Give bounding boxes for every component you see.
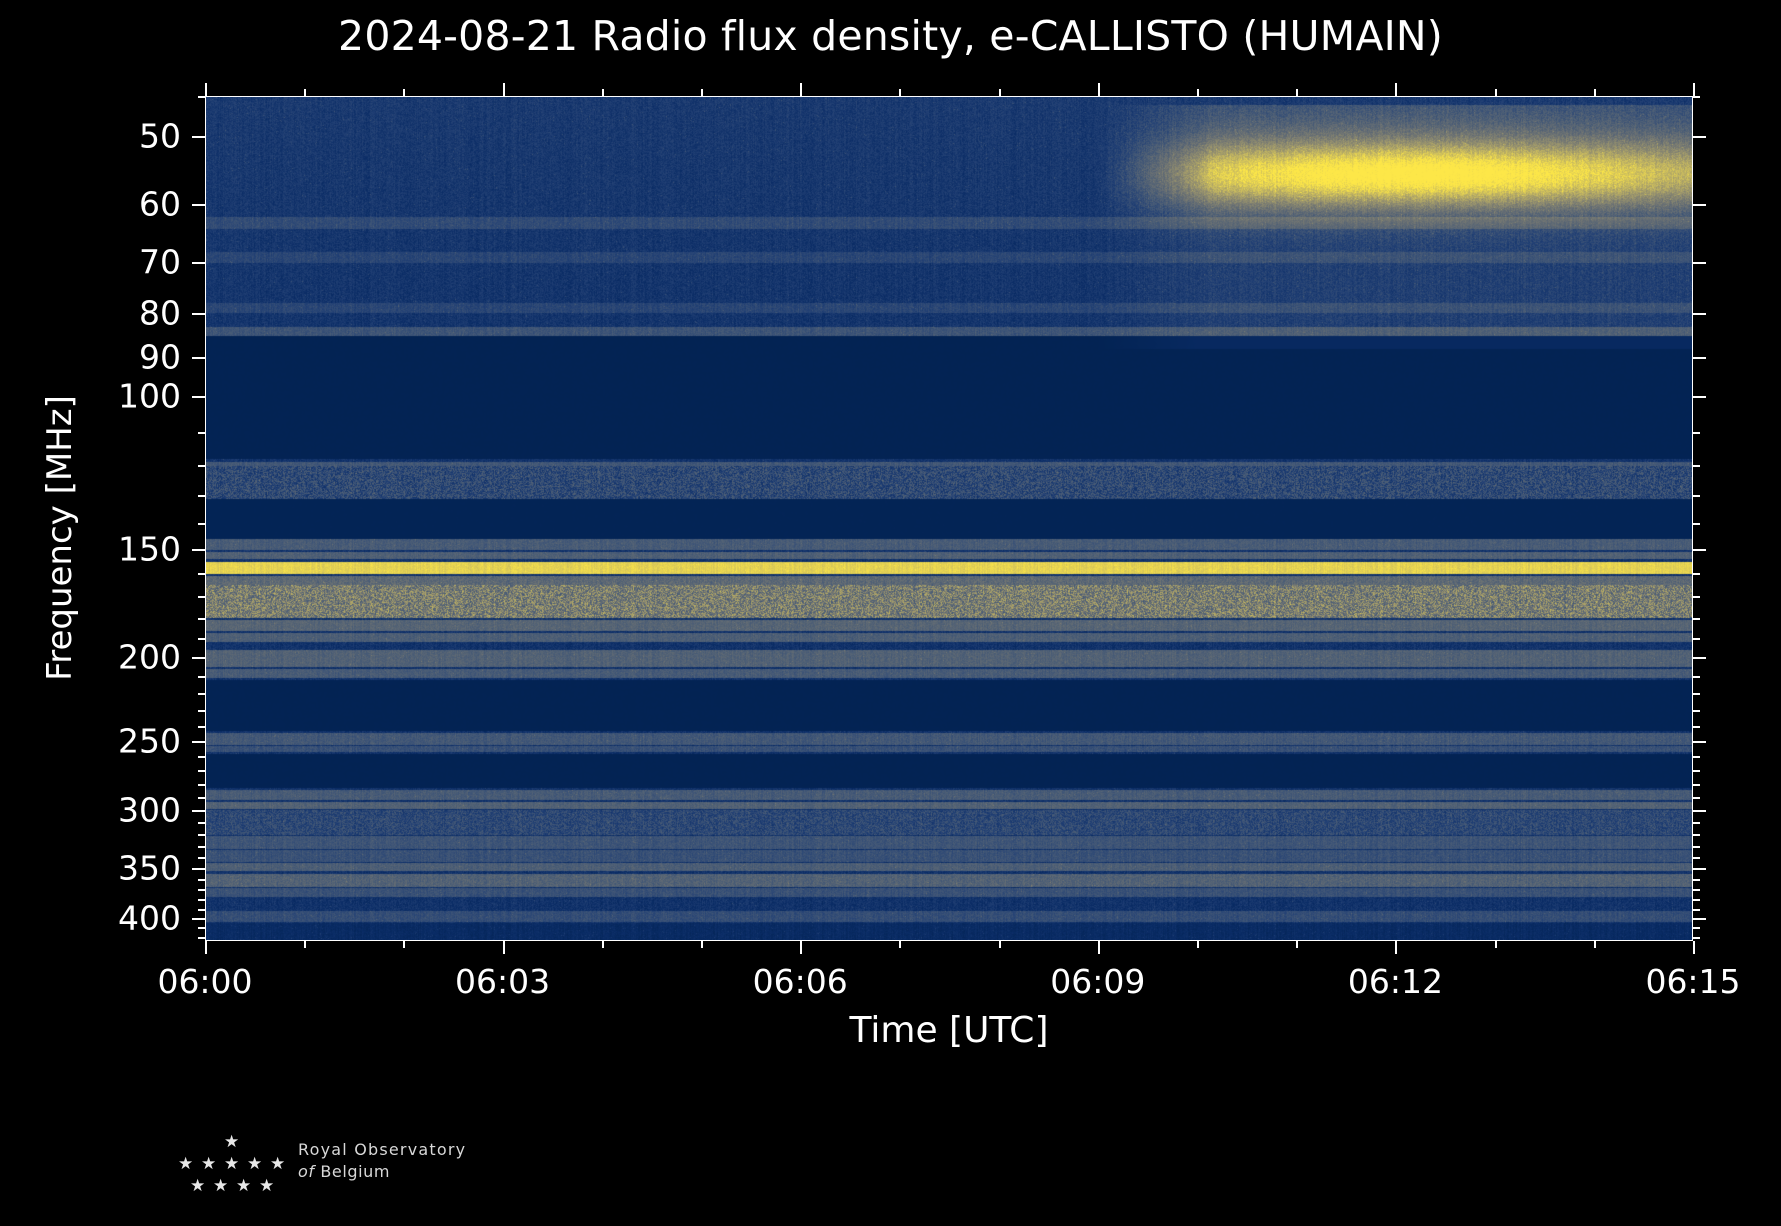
x-tick-minor (1495, 89, 1497, 96)
y-tick-label: 80 (21, 293, 181, 332)
y-tick-minor (198, 756, 205, 758)
x-tick-label: 06:00 (157, 962, 252, 1001)
y-tick-major (1693, 136, 1706, 138)
y-tick-minor (1693, 927, 1700, 929)
logo-line-1: Royal Observatory (298, 1139, 588, 1161)
x-tick-minor (701, 941, 703, 948)
y-tick-major (1693, 868, 1706, 870)
royal-observatory-logo: ★★★★★★★★★★ Royal Observatory of Belgium (178, 1134, 598, 1214)
y-tick-label: 70 (21, 243, 181, 282)
x-tick-minor (304, 89, 306, 96)
y-tick-minor (198, 797, 205, 799)
y-tick-minor (198, 899, 205, 901)
x-tick-minor (403, 941, 405, 948)
y-tick-major (1693, 262, 1706, 264)
x-tick-minor (899, 89, 901, 96)
x-tick-minor (999, 89, 1001, 96)
x-tick-label: 06:15 (1645, 962, 1740, 1001)
y-tick-minor (1693, 523, 1700, 525)
x-axis-label: Time [UTC] (205, 1010, 1693, 1051)
y-tick-major (192, 357, 205, 359)
y-tick-minor (198, 846, 205, 848)
y-tick-minor (198, 909, 205, 911)
x-tick-major (205, 83, 207, 96)
y-tick-major (1693, 204, 1706, 206)
y-tick-minor (1693, 96, 1700, 98)
spectrogram-plot-area (205, 96, 1693, 941)
y-tick-major (192, 549, 205, 551)
y-tick-major (1693, 357, 1706, 359)
y-axis-label: Frequency [MHz] (40, 328, 80, 748)
y-tick-minor (198, 693, 205, 695)
star-icon: ★ (224, 1156, 239, 1173)
y-tick-major (192, 313, 205, 315)
x-tick-major (800, 941, 802, 954)
x-tick-major (205, 941, 207, 954)
y-tick-minor (198, 596, 205, 598)
y-tick-minor (198, 857, 205, 859)
x-tick-major (1395, 83, 1397, 96)
y-tick-minor (198, 676, 205, 678)
y-tick-minor (1693, 638, 1700, 640)
x-tick-label: 06:06 (753, 962, 848, 1001)
x-tick-major (503, 83, 505, 96)
y-tick-minor (1693, 726, 1700, 728)
y-tick-major (192, 657, 205, 659)
star-icon: ★ (201, 1156, 216, 1173)
y-tick-minor (198, 770, 205, 772)
x-tick-minor (701, 89, 703, 96)
x-tick-minor (403, 89, 405, 96)
y-tick-minor (198, 710, 205, 712)
y-tick-major (192, 918, 205, 920)
y-tick-major (192, 136, 205, 138)
y-tick-minor (198, 889, 205, 891)
x-tick-minor (999, 941, 1001, 948)
y-tick-minor (1693, 889, 1700, 891)
y-tick-minor (1693, 676, 1700, 678)
y-tick-minor (1693, 857, 1700, 859)
x-tick-major (503, 941, 505, 954)
page-title: 2024-08-21 Radio flux density, e-CALLIST… (0, 12, 1781, 60)
y-tick-minor (1693, 573, 1700, 575)
y-tick-major (1693, 396, 1706, 398)
y-tick-minor (198, 879, 205, 881)
x-tick-minor (1197, 89, 1199, 96)
spectrogram-figure: 2024-08-21 Radio flux density, e-CALLIST… (0, 0, 1781, 1226)
x-tick-minor (602, 941, 604, 948)
y-tick-minor (198, 638, 205, 640)
x-tick-major (1098, 83, 1100, 96)
y-tick-major (1693, 741, 1706, 743)
y-tick-minor (1693, 834, 1700, 836)
star-icon: ★ (259, 1178, 274, 1195)
y-tick-minor (198, 927, 205, 929)
y-tick-minor (1693, 596, 1700, 598)
x-tick-label: 06:03 (455, 962, 550, 1001)
x-tick-major (1098, 941, 1100, 954)
y-tick-minor (198, 784, 205, 786)
y-tick-minor (198, 726, 205, 728)
y-tick-minor (198, 465, 205, 467)
y-tick-minor (1693, 693, 1700, 695)
y-tick-minor (198, 96, 205, 98)
y-tick-minor (1693, 465, 1700, 467)
x-tick-minor (1594, 89, 1596, 96)
x-tick-major (1693, 83, 1695, 96)
star-icon: ★ (213, 1178, 228, 1195)
y-tick-label: 400 (21, 899, 181, 938)
y-tick-minor (1693, 495, 1700, 497)
y-tick-label: 300 (21, 790, 181, 829)
star-icon: ★ (247, 1156, 262, 1173)
x-tick-minor (1495, 941, 1497, 948)
x-tick-minor (1594, 941, 1596, 948)
y-tick-major (192, 741, 205, 743)
y-tick-minor (1693, 432, 1700, 434)
x-tick-major (1693, 941, 1695, 954)
star-icon: ★ (236, 1178, 251, 1195)
y-tick-minor (198, 937, 205, 939)
y-tick-label: 50 (21, 116, 181, 155)
x-tick-minor (899, 941, 901, 948)
y-tick-major (192, 262, 205, 264)
star-constellation-icon: ★★★★★★★★★★ (178, 1134, 288, 1196)
y-tick-minor (1693, 822, 1700, 824)
y-tick-minor (1693, 899, 1700, 901)
x-tick-minor (1296, 941, 1298, 948)
y-tick-minor (1693, 710, 1700, 712)
star-icon: ★ (178, 1156, 193, 1173)
y-tick-label: 60 (21, 185, 181, 224)
y-tick-minor (198, 432, 205, 434)
x-tick-minor (602, 89, 604, 96)
y-tick-major (1693, 549, 1706, 551)
spectrogram-image (205, 96, 1693, 941)
y-tick-minor (198, 495, 205, 497)
y-tick-minor (1693, 937, 1700, 939)
x-tick-major (800, 83, 802, 96)
x-tick-label: 06:09 (1050, 962, 1145, 1001)
y-tick-minor (1693, 846, 1700, 848)
x-tick-label: 06:12 (1348, 962, 1443, 1001)
y-tick-major (192, 810, 205, 812)
y-tick-minor (1693, 909, 1700, 911)
y-tick-minor (198, 618, 205, 620)
logo-of-word: of (298, 1162, 315, 1181)
y-tick-label: 350 (21, 848, 181, 887)
x-tick-minor (1197, 941, 1199, 948)
x-tick-minor (1296, 89, 1298, 96)
y-tick-minor (1693, 618, 1700, 620)
y-tick-minor (1693, 756, 1700, 758)
y-tick-minor (1693, 770, 1700, 772)
y-tick-major (192, 396, 205, 398)
y-tick-minor (198, 822, 205, 824)
logo-text: Royal Observatory of Belgium (298, 1139, 588, 1183)
y-tick-minor (1693, 784, 1700, 786)
y-tick-major (1693, 313, 1706, 315)
y-tick-minor (198, 834, 205, 836)
y-tick-minor (1693, 879, 1700, 881)
y-tick-major (192, 868, 205, 870)
star-icon: ★ (224, 1134, 239, 1151)
logo-belgium-word: Belgium (320, 1162, 390, 1181)
star-icon: ★ (190, 1178, 205, 1195)
y-tick-major (1693, 918, 1706, 920)
y-tick-minor (198, 573, 205, 575)
y-tick-major (192, 204, 205, 206)
y-tick-minor (1693, 797, 1700, 799)
logo-line-2: of Belgium (298, 1161, 588, 1183)
y-tick-major (1693, 810, 1706, 812)
y-tick-minor (198, 523, 205, 525)
star-icon: ★ (270, 1156, 285, 1173)
x-tick-minor (304, 941, 306, 948)
y-tick-major (1693, 657, 1706, 659)
x-tick-major (1395, 941, 1397, 954)
